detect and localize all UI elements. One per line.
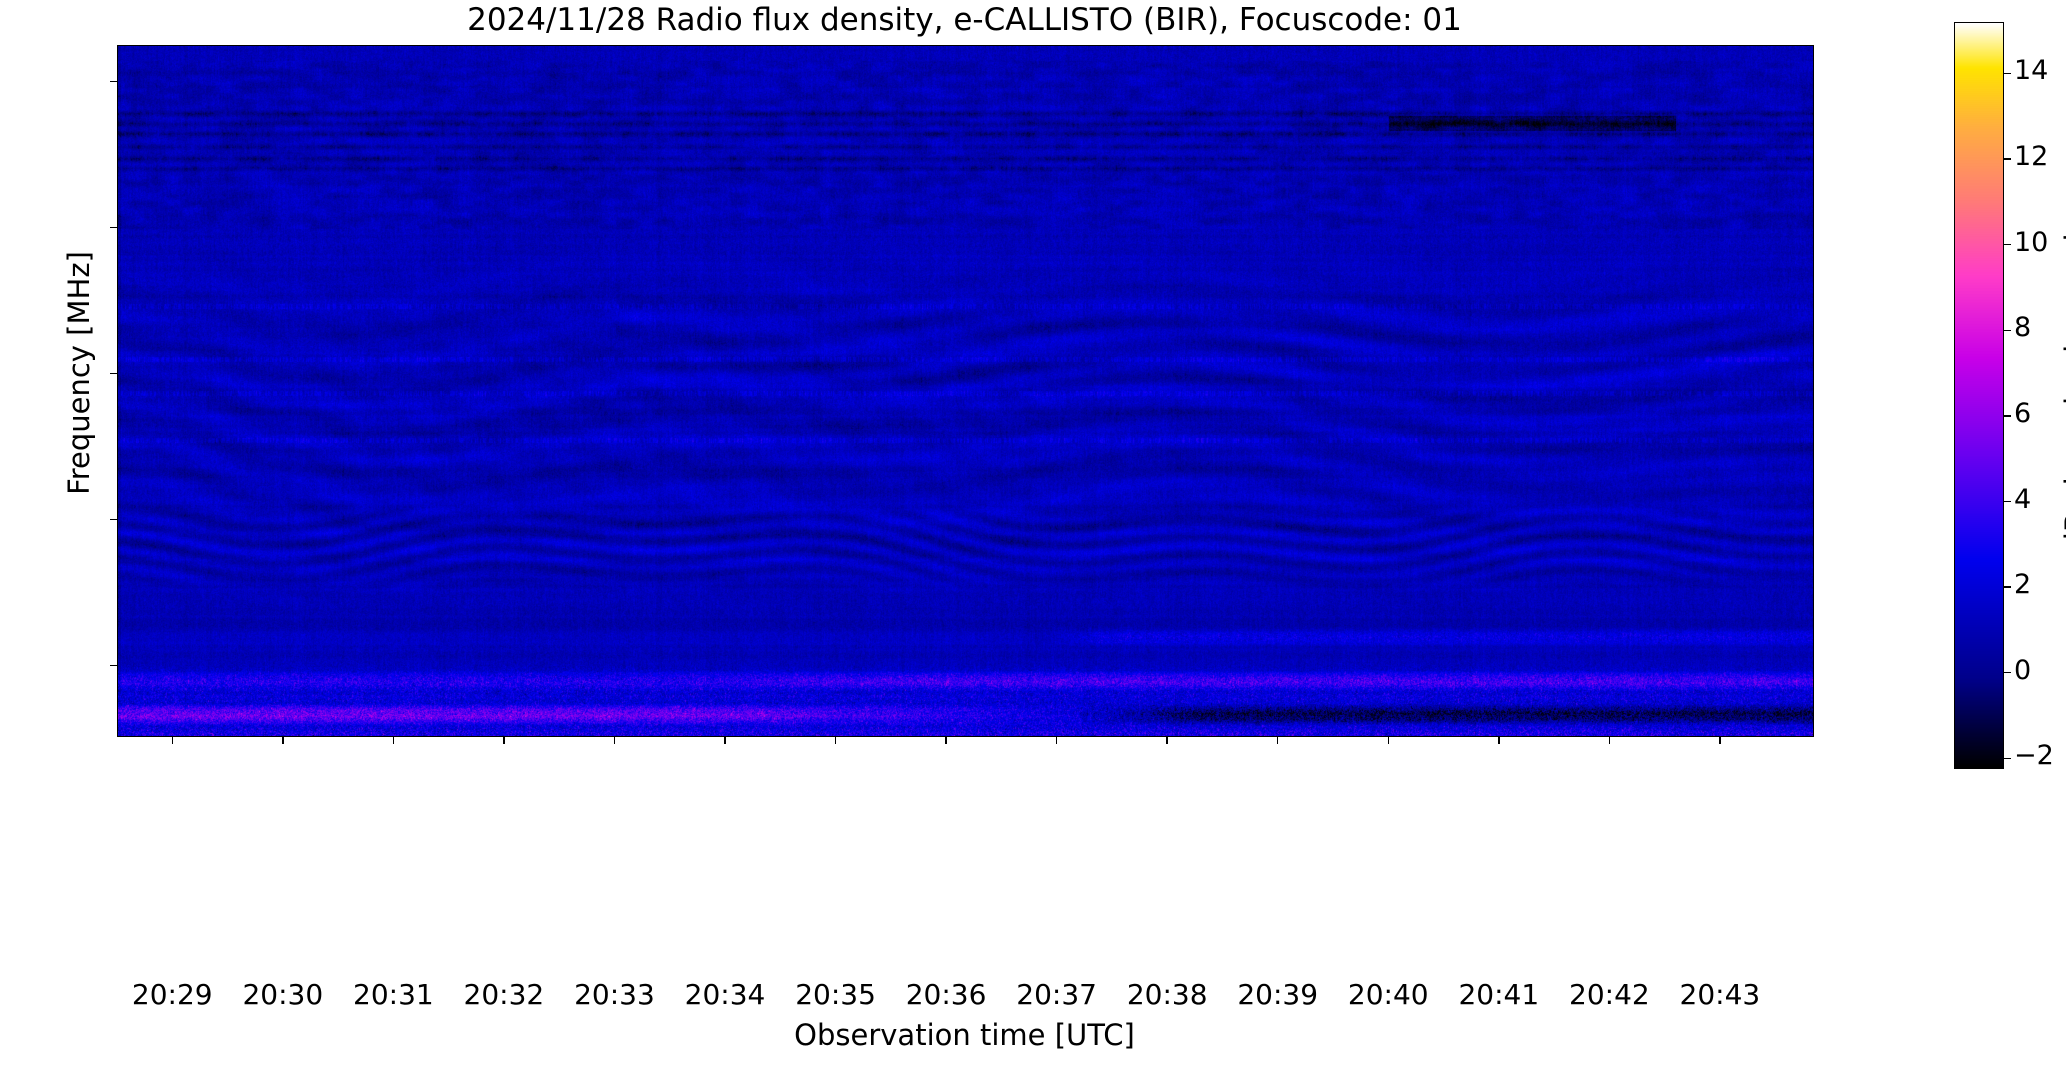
x-axis-tick-mark <box>393 736 394 744</box>
colorbar-tick-label: 8 <box>2014 312 2066 343</box>
x-axis-tick-mark <box>724 736 725 744</box>
colorbar-tick-label: 12 <box>2014 141 2066 172</box>
x-axis-tick-mark <box>614 736 615 744</box>
colorbar-tick-mark <box>2003 330 2011 331</box>
x-axis-tick-mark <box>1056 736 1057 744</box>
colorbar[interactable] <box>1954 22 2004 769</box>
x-axis-tick-mark <box>835 736 836 744</box>
x-axis-label: Observation time [UTC] <box>117 1018 1812 1052</box>
spectrogram-plot-area[interactable] <box>117 45 1814 737</box>
colorbar-tick-mark <box>2003 501 2011 502</box>
x-axis-tick-mark <box>1388 736 1389 744</box>
page-title: 2024/11/28 Radio flux density, e-CALLIST… <box>117 2 1812 38</box>
colorbar-label: dB above background <box>2059 82 2066 702</box>
colorbar-tick-mark <box>2003 758 2011 759</box>
x-axis-tick-mark <box>1498 736 1499 744</box>
x-axis-tick-mark <box>503 736 504 744</box>
colorbar-tick-mark <box>2003 586 2011 587</box>
colorbar-tick-label: −2 <box>2014 740 2066 771</box>
y-axis-label: Frequency [MHz] <box>62 23 96 723</box>
colorbar-tick-mark <box>2003 73 2011 74</box>
x-axis-tick-mark <box>1277 736 1278 744</box>
x-axis-tick-mark <box>945 736 946 744</box>
y-axis-tick-mark <box>110 519 118 520</box>
colorbar-tick-label: 0 <box>2014 655 2066 686</box>
x-axis-tick-label: 20:43 <box>1640 978 1800 1011</box>
colorbar-gradient <box>1955 23 2003 768</box>
y-axis-tick-mark <box>110 373 118 374</box>
x-axis-tick-mark <box>172 736 173 744</box>
colorbar-tick-label: 4 <box>2014 484 2066 515</box>
x-axis-tick-mark <box>1719 736 1720 744</box>
colorbar-tick-mark <box>2003 415 2011 416</box>
colorbar-tick-mark <box>2003 244 2011 245</box>
colorbar-tick-mark <box>2003 158 2011 159</box>
y-axis-tick-mark <box>110 665 118 666</box>
colorbar-tick-label: 10 <box>2014 227 2066 258</box>
figure-canvas: 2024/11/28 Radio flux density, e-CALLIST… <box>0 0 2066 1067</box>
spectrogram-image <box>118 46 1813 736</box>
y-axis-tick-mark <box>110 227 118 228</box>
colorbar-tick-label: 2 <box>2014 569 2066 600</box>
y-axis-tick-mark <box>110 81 118 82</box>
colorbar-tick-label: 6 <box>2014 398 2066 429</box>
colorbar-tick-label: 14 <box>2014 55 2066 86</box>
colorbar-tick-mark <box>2003 672 2011 673</box>
x-axis-tick-mark <box>282 736 283 744</box>
x-axis-tick-mark <box>1609 736 1610 744</box>
x-axis-tick-mark <box>1166 736 1167 744</box>
